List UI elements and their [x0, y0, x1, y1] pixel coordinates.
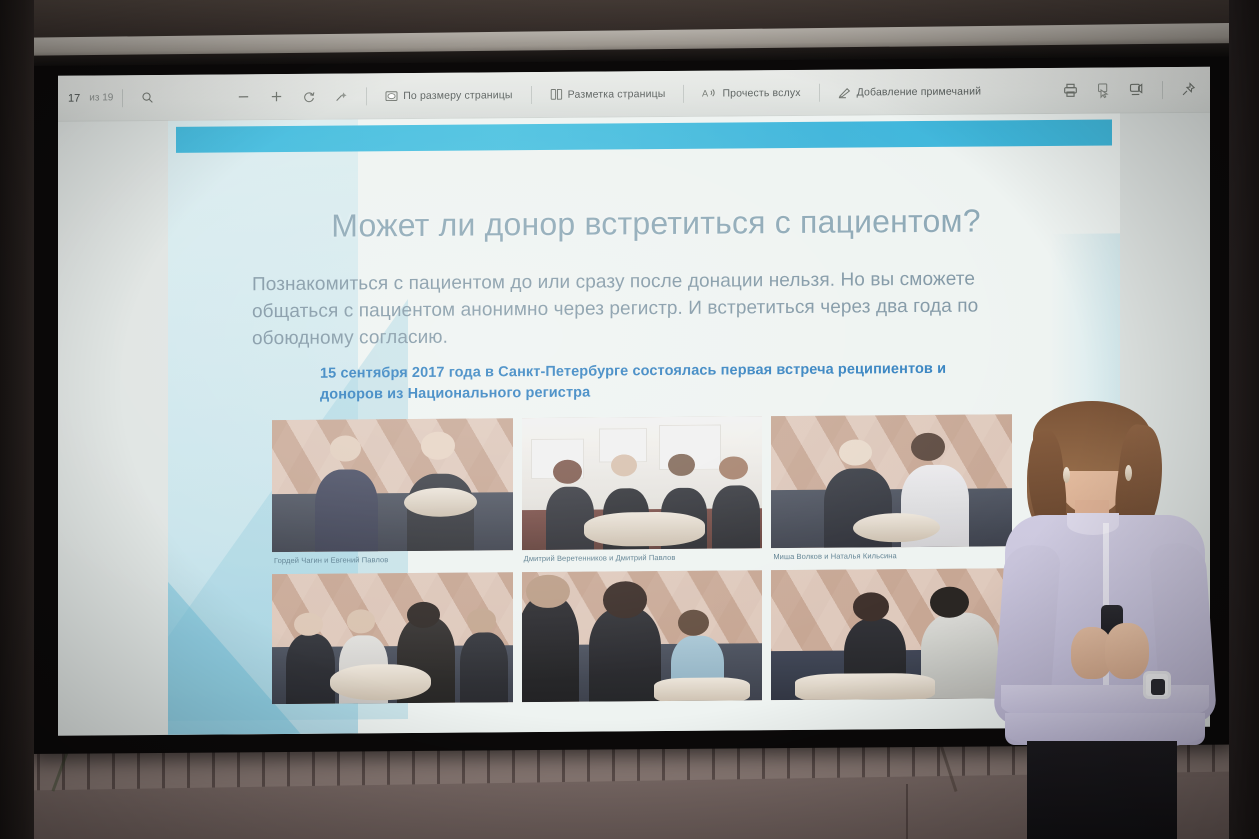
photo-person-head: [719, 456, 748, 480]
slide-title: Может ли донор встретиться с пациентом?: [256, 202, 1056, 245]
zoom-out-icon[interactable]: [227, 85, 260, 108]
photo-person: [546, 486, 594, 550]
page-number[interactable]: 17: [58, 92, 80, 104]
presenter-hand-right: [1105, 623, 1149, 679]
wall-left-edge: [0, 0, 34, 839]
meeting-photo-1: [272, 418, 513, 552]
presenter-skirt: [1027, 741, 1177, 839]
photo-table: [584, 512, 704, 547]
zoom-in-icon[interactable]: [260, 85, 293, 108]
toolbar-spacer-left: [163, 97, 227, 98]
photo-table: [330, 664, 431, 701]
presenter: [975, 395, 1245, 839]
printer-icon[interactable]: [1054, 79, 1087, 102]
toolbar-divider-1: [122, 89, 123, 107]
photo-person: [315, 469, 378, 551]
read-aloud-label: Прочесть вслух: [722, 86, 800, 99]
slide-highlight-caption: 15 сентября 2017 года в Санкт-Петербурге…: [320, 359, 960, 406]
photo-person-head: [347, 610, 376, 634]
page-count-label: из 19: [80, 92, 113, 103]
photo-caption: Дмитрий Веретенников и Дмитрий Павлов: [522, 548, 763, 570]
toolbar-divider-2: [366, 87, 367, 105]
photo-person-head: [553, 460, 582, 484]
photo-person-head: [467, 609, 496, 633]
toolbar-divider-4: [683, 84, 684, 102]
photo-cell: [272, 572, 513, 704]
watch-face: [1151, 679, 1165, 695]
toolbar-divider-6: [1162, 81, 1163, 99]
meeting-photo-2: [522, 416, 763, 550]
photo-person: [460, 632, 508, 703]
photo-person-head: [911, 433, 945, 461]
meeting-photo-5: [522, 570, 763, 702]
photo-grid: Гордей Чагин и Евгений Павлов: [272, 414, 1012, 704]
toolbar-divider-3: [531, 86, 532, 104]
slide-body-text: Познакомиться с пациентом до или сразу п…: [252, 266, 992, 353]
fit-to-page-label: По размеру страницы: [403, 89, 512, 102]
photo-table: [795, 673, 935, 700]
presenter-earring-right: [1125, 465, 1132, 481]
toolbar-divider-5: [819, 83, 820, 101]
meeting-photo-4: [272, 572, 513, 704]
page-layout-label: Разметка страницы: [568, 87, 666, 100]
svg-text:A: A: [702, 88, 709, 98]
photo-person: [286, 633, 334, 704]
search-icon[interactable]: [132, 87, 163, 108]
photo-table: [404, 487, 476, 517]
photo-person: [589, 607, 661, 701]
photo-person-head: [603, 582, 646, 619]
photo-person-head: [526, 574, 569, 608]
cursor-select-icon[interactable]: [1087, 78, 1120, 102]
photo-caption: Гордей Чагин и Евгений Павлов: [272, 550, 513, 572]
wainscot-seam: [906, 784, 908, 839]
fit-selection-icon[interactable]: [325, 85, 357, 107]
photo-cell: Дмитрий Веретенников и Дмитрий Павлов: [522, 416, 763, 570]
presenter-collar: [1067, 513, 1119, 535]
rotate-icon[interactable]: [293, 85, 325, 107]
photo-table: [654, 677, 750, 702]
room-photograph: 17 из 19: [0, 0, 1259, 839]
photo-person-head: [421, 432, 455, 460]
photo-person: [522, 595, 580, 702]
presenter-wristwatch: [1143, 671, 1171, 699]
toolbar-spacer-right: [990, 90, 1054, 91]
fit-to-page-button[interactable]: По размеру страницы: [376, 85, 521, 106]
photo-sofa: [272, 492, 513, 552]
photo-table: [853, 513, 940, 543]
photo-person-head: [407, 601, 441, 627]
photo-cell: [522, 570, 763, 702]
photo-person-head: [294, 613, 323, 637]
presenter-earring-left: [1063, 467, 1070, 483]
add-notes-button[interactable]: Добавление примечаний: [829, 80, 991, 102]
photo-person: [712, 485, 760, 549]
photo-cell: Гордей Чагин и Евгений Павлов: [272, 418, 513, 572]
page-layout-button[interactable]: Разметка страницы: [541, 83, 675, 105]
highlighter-icon[interactable]: [1120, 78, 1153, 101]
share-pin-icon[interactable]: [1172, 78, 1210, 101]
add-notes-label: Добавление примечаний: [857, 85, 982, 98]
read-aloud-button[interactable]: A Прочесть вслух: [693, 82, 809, 104]
